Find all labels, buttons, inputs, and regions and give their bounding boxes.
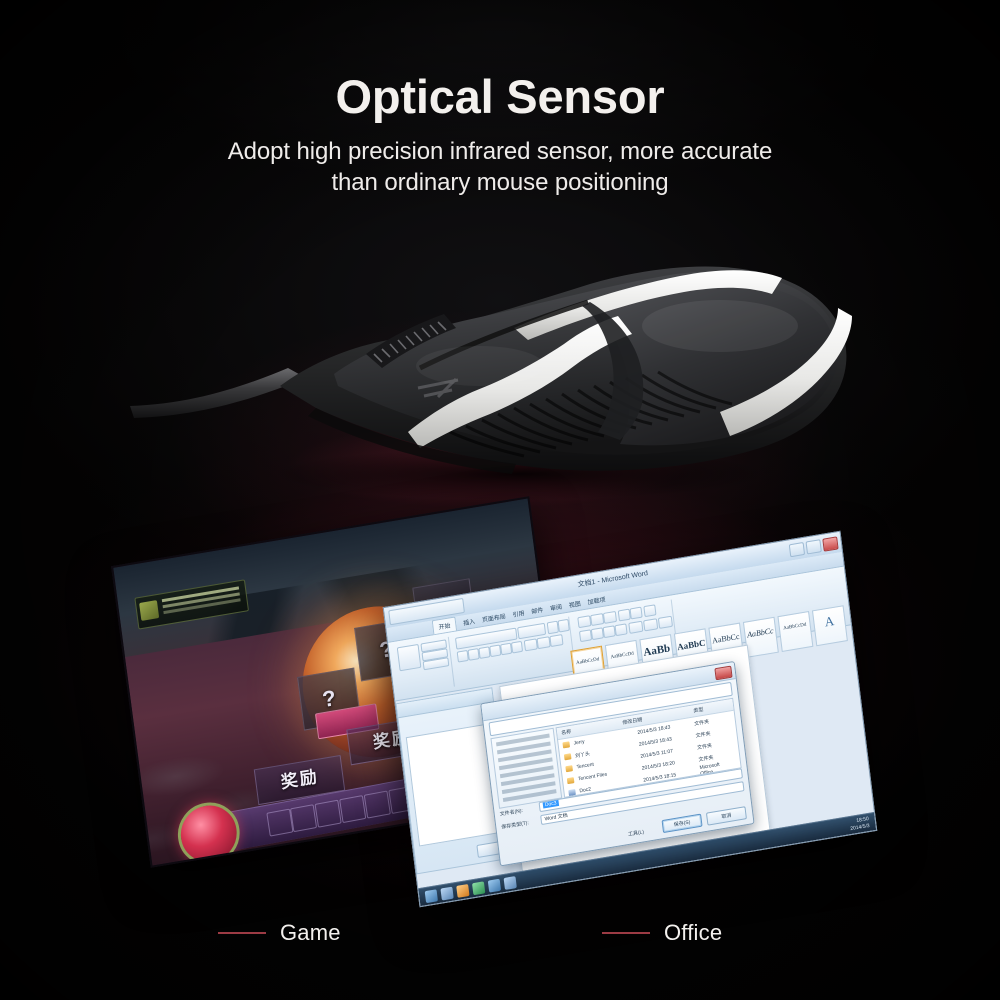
legend-label: Office <box>664 920 722 946</box>
game-skill-slot[interactable] <box>314 799 341 827</box>
numbering-button[interactable] <box>590 613 604 626</box>
start-button-icon[interactable] <box>425 889 438 903</box>
folder-icon <box>562 741 570 748</box>
increase-indent-button[interactable] <box>630 607 643 620</box>
borders-button[interactable] <box>658 616 673 629</box>
clear-formatting-button[interactable] <box>549 634 563 647</box>
maximize-button[interactable] <box>806 539 822 554</box>
legend-item-game: Game <box>218 920 341 946</box>
minimize-button[interactable] <box>789 542 805 557</box>
page-subtitle-line-2: than ordinary mouse positioning <box>180 167 820 198</box>
column-name[interactable]: 名称 <box>561 728 572 737</box>
filetype-label: 保存类型(T): <box>501 819 529 831</box>
close-button[interactable] <box>822 536 838 551</box>
save-button[interactable]: 保存(S) <box>662 814 703 834</box>
system-clock[interactable]: 18:50 2014/5/3 <box>849 816 870 832</box>
legend-item-office: Office <box>602 920 722 946</box>
game-skill-slot[interactable] <box>363 790 390 818</box>
ribbon-group-clipboard <box>393 637 455 696</box>
browser-icon[interactable] <box>472 881 485 895</box>
ribbon-tab-view[interactable]: 视图 <box>568 598 581 609</box>
header-block: Optical Sensor Adopt high precision infr… <box>0 0 1000 198</box>
game-skill-slot[interactable] <box>339 795 366 823</box>
legend-label: Game <box>280 920 341 946</box>
legend-rule-icon <box>218 932 266 934</box>
ribbon-tab-layout[interactable]: 页面布局 <box>481 611 506 624</box>
multilevel-list-button[interactable] <box>603 611 617 624</box>
line-spacing-button[interactable] <box>628 621 643 634</box>
word-taskbar-icon[interactable] <box>504 876 517 890</box>
column-type[interactable]: 类型 <box>693 706 704 715</box>
folder-icon <box>567 777 575 784</box>
superscript-button[interactable] <box>511 641 523 654</box>
page-subtitle-line-1: Adopt high precision infrared sensor, mo… <box>180 136 820 167</box>
column-date[interactable]: 修改日期 <box>622 716 643 726</box>
ribbon-tab-insert[interactable]: 插入 <box>463 616 476 627</box>
highlight-color-button[interactable] <box>537 636 551 649</box>
style-item-emphasis[interactable]: AaBbCcDd <box>777 611 813 652</box>
ribbon-tab-references[interactable]: 引用 <box>512 608 525 619</box>
save-as-navigation-pane[interactable] <box>490 728 562 809</box>
tools-menu-button[interactable]: 工具(L) <box>628 828 645 838</box>
style-item-change-styles[interactable]: A <box>812 605 848 646</box>
shrink-font-button[interactable] <box>558 619 570 633</box>
shading-button[interactable] <box>643 618 658 631</box>
ribbon-tab-mailings[interactable]: 邮件 <box>531 604 544 615</box>
filename-label: 文件名(N): <box>499 807 523 818</box>
cancel-button[interactable]: 取消 <box>706 806 747 826</box>
product-feature-banner: Optical Sensor Adopt high precision infr… <box>0 0 1000 1000</box>
font-color-button[interactable] <box>524 638 538 651</box>
game-skill-slot[interactable] <box>265 808 292 836</box>
game-quest-icon <box>139 600 159 621</box>
page-title: Optical Sensor <box>0 0 1000 123</box>
justify-button[interactable] <box>614 623 627 636</box>
game-skill-slot[interactable] <box>290 804 317 832</box>
bullets-button[interactable] <box>577 615 591 628</box>
sort-button[interactable] <box>643 604 656 617</box>
legend-rule-icon <box>602 932 650 934</box>
folder-icon[interactable] <box>456 883 469 897</box>
folder-icon <box>565 765 573 772</box>
explorer-icon[interactable] <box>440 886 453 900</box>
filename-value: Doc3 <box>543 800 559 809</box>
paste-button[interactable] <box>397 644 422 671</box>
page-subtitle: Adopt high precision infrared sensor, mo… <box>180 136 820 198</box>
save-as-close-button[interactable] <box>714 666 732 681</box>
ribbon-tab-addins[interactable]: 加载项 <box>587 594 606 606</box>
skype-icon[interactable] <box>488 878 501 892</box>
ribbon-tab-review[interactable]: 审阅 <box>549 601 562 612</box>
folder-icon <box>564 753 572 760</box>
